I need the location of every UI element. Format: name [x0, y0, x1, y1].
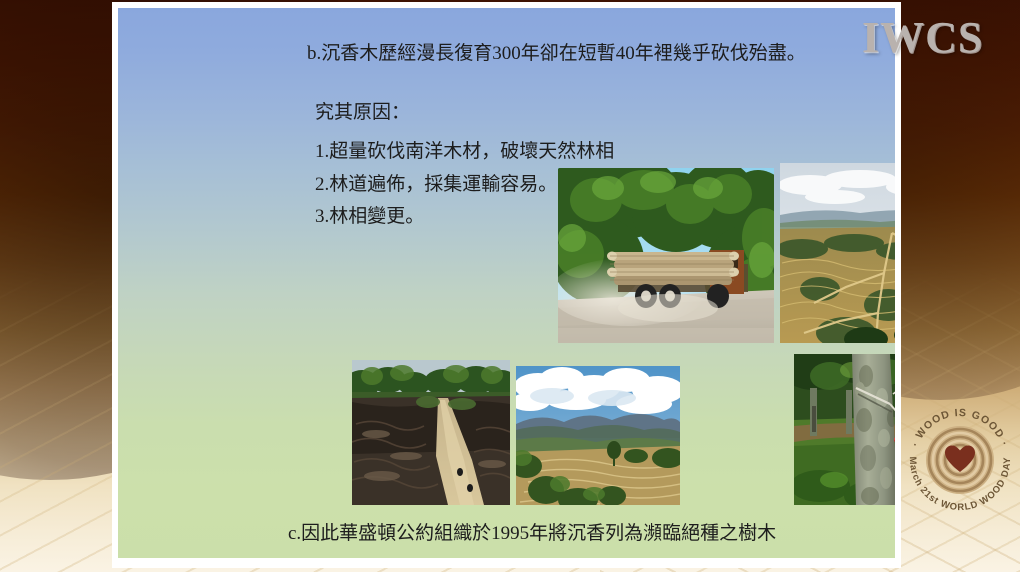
- aerial-deforestation-photo: [780, 163, 895, 343]
- reason-item-1: 1.超量砍伐南洋木材，破壞天然林相: [315, 136, 614, 163]
- reasons-title: 究其原因：: [315, 97, 410, 124]
- slide-canvas: b.沉香木歷經漫長復育300年卻在短暫40年裡幾乎砍伐殆盡。 究其原因： 1.超…: [118, 8, 895, 558]
- iwcs-watermark: IWCS: [862, 12, 983, 63]
- reason-item-3: 3.林相變更。: [315, 201, 424, 228]
- slide-viewport: b.沉香木歷經漫長復育300年卻在短暫40年裡幾乎砍伐殆盡。 究其原因： 1.超…: [0, 0, 1020, 572]
- logging-truck-photo: [558, 168, 774, 343]
- footer-note: c.因此華盛頓公約組織於1995年將沉香列為瀕臨絕種之樹木: [288, 518, 776, 545]
- reason-item-2: 2.林道遍佈，採集運輸容易。: [315, 169, 557, 196]
- terraced-hills-photo: [516, 366, 680, 505]
- rubber-tapping-photo: [794, 354, 895, 505]
- world-wood-day-emblem: · WOOD IS GOOD · March 21st WORLD WOOD D…: [898, 398, 1020, 522]
- slide-heading: b.沉香木歷經漫長復育300年卻在短暫40年裡幾乎砍伐殆盡。: [307, 38, 806, 65]
- burned-clearing-photo: [352, 360, 510, 505]
